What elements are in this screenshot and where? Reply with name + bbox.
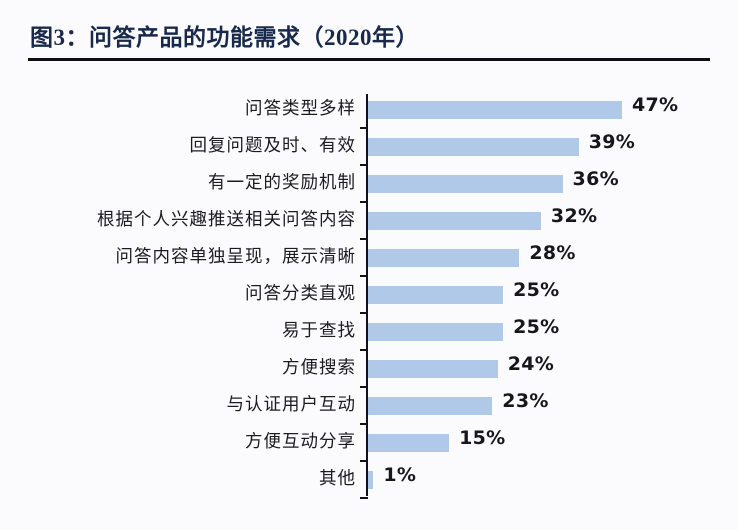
chart-row: 易于查找25% bbox=[0, 314, 738, 351]
value-label: 24% bbox=[508, 353, 554, 375]
axis-tick bbox=[360, 497, 368, 499]
bar bbox=[368, 434, 449, 452]
value-label: 25% bbox=[513, 316, 559, 338]
value-label: 47% bbox=[632, 94, 678, 116]
bar-container bbox=[368, 286, 503, 304]
category-label: 易于查找 bbox=[282, 314, 356, 351]
value-label: 15% bbox=[459, 427, 505, 449]
chart-row: 根据个人兴趣推送相关问答内容32% bbox=[0, 203, 738, 240]
bar bbox=[368, 249, 519, 267]
bar-container bbox=[368, 434, 449, 452]
chart-row: 方便互动分享15% bbox=[0, 425, 738, 462]
bar-container bbox=[368, 471, 373, 489]
value-label: 32% bbox=[551, 205, 597, 227]
bar bbox=[368, 175, 563, 193]
category-label: 与认证用户互动 bbox=[227, 388, 357, 425]
category-label: 问答分类直观 bbox=[245, 277, 356, 314]
bar-container bbox=[368, 397, 492, 415]
page-title: 图3：问答产品的功能需求（2020年） bbox=[30, 18, 419, 52]
title-divider bbox=[28, 58, 710, 61]
category-label: 其他 bbox=[319, 462, 356, 499]
bar bbox=[368, 212, 541, 230]
bar-container bbox=[368, 212, 541, 230]
bar-container bbox=[368, 360, 498, 378]
bar bbox=[368, 360, 498, 378]
chart-row: 有一定的奖励机制36% bbox=[0, 166, 738, 203]
value-label: 1% bbox=[383, 464, 416, 486]
bar bbox=[368, 138, 579, 156]
chart-row: 与认证用户互动23% bbox=[0, 388, 738, 425]
bar-container bbox=[368, 249, 519, 267]
chart-row: 其他1% bbox=[0, 462, 738, 499]
value-label: 39% bbox=[589, 131, 635, 153]
chart-row: 问答内容单独呈现，展示清晰28% bbox=[0, 240, 738, 277]
chart-row: 回复问题及时、有效39% bbox=[0, 129, 738, 166]
bar bbox=[368, 101, 622, 119]
value-label: 28% bbox=[529, 242, 575, 264]
bar-container bbox=[368, 101, 622, 119]
category-label: 问答类型多样 bbox=[245, 92, 356, 129]
category-label: 方便搜索 bbox=[282, 351, 356, 388]
bar-container bbox=[368, 323, 503, 341]
category-label: 方便互动分享 bbox=[245, 425, 356, 462]
bar bbox=[368, 323, 503, 341]
plot-area: 问答类型多样47%回复问题及时、有效39%有一定的奖励机制36%根据个人兴趣推送… bbox=[0, 92, 738, 512]
value-label: 23% bbox=[502, 390, 548, 412]
bar bbox=[368, 471, 373, 489]
bar-container bbox=[368, 138, 579, 156]
bar-container bbox=[368, 175, 563, 193]
bar bbox=[368, 397, 492, 415]
chart-row: 方便搜索24% bbox=[0, 351, 738, 388]
value-label: 36% bbox=[573, 168, 619, 190]
title-block: 图3：问答产品的功能需求（2020年） bbox=[0, 0, 738, 68]
chart-row: 问答分类直观25% bbox=[0, 277, 738, 314]
chart-figure: 图3：问答产品的功能需求（2020年） 问答类型多样47%回复问题及时、有效39… bbox=[0, 0, 738, 530]
value-label: 25% bbox=[513, 279, 559, 301]
category-label: 回复问题及时、有效 bbox=[190, 129, 357, 166]
bar-rows: 问答类型多样47%回复问题及时、有效39%有一定的奖励机制36%根据个人兴趣推送… bbox=[0, 92, 738, 499]
category-label: 根据个人兴趣推送相关问答内容 bbox=[97, 203, 356, 240]
bar bbox=[368, 286, 503, 304]
category-label: 问答内容单独呈现，展示清晰 bbox=[116, 240, 357, 277]
chart-row: 问答类型多样47% bbox=[0, 92, 738, 129]
category-label: 有一定的奖励机制 bbox=[208, 166, 356, 203]
